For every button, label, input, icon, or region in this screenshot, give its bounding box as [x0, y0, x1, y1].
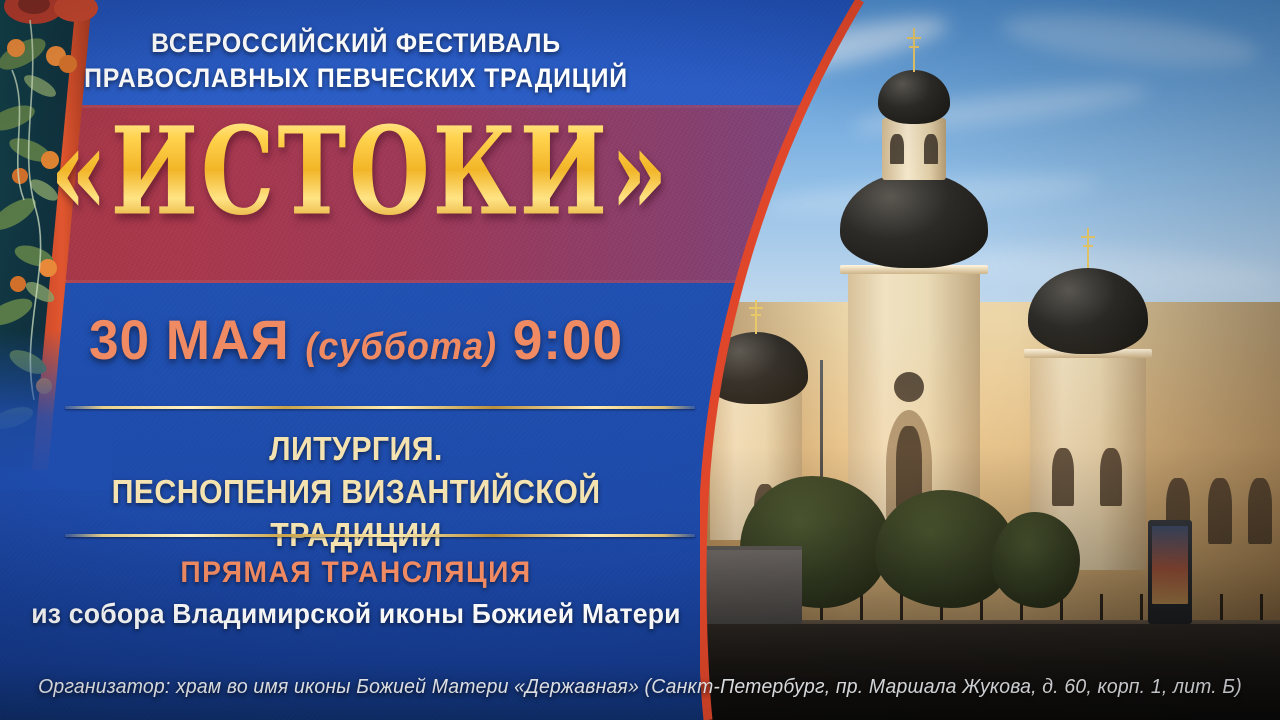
kicker-line-1: ВСЕРОССИЙСКИЙ ФЕСТИВАЛЬ: [28, 26, 683, 61]
divider-top: [65, 406, 695, 409]
festival-title: «ИСТОКИ»: [50, 112, 662, 233]
divider-bottom: [65, 534, 695, 537]
venue-line: из собора Владимирской иконы Божией Мате…: [18, 598, 694, 630]
broadcast-label: ПРЯМАЯ ТРАНСЛЯЦИЯ: [21, 556, 690, 590]
event-date: 30 МАЯ: [89, 308, 290, 371]
organizer-line: Организатор: храм во имя иконы Божией Ма…: [19, 676, 1261, 699]
program-line-2: ПЕСНОПЕНИЯ ВИЗАНТИЙСКОЙ ТРАДИЦИИ: [28, 471, 683, 557]
festival-poster: ВСЕРОССИЙСКИЙ ФЕСТИВАЛЬ ПРАВОСЛАВНЫХ ПЕВ…: [0, 0, 1280, 720]
program-line-1: ЛИТУРГИЯ.: [28, 428, 683, 471]
kicker-line-2: ПРАВОСЛАВНЫХ ПЕВЧЕСКИХ ТРАДИЦИЙ: [28, 61, 683, 96]
event-weekday: (суббота): [305, 326, 497, 368]
event-time: 9:00: [513, 308, 623, 371]
date-time-line: 30 МАЯ (суббота) 9:00: [18, 312, 694, 368]
festival-kicker: ВСЕРОССИЙСКИЙ ФЕСТИВАЛЬ ПРАВОСЛАВНЫХ ПЕВ…: [28, 26, 683, 95]
program-block: ЛИТУРГИЯ. ПЕСНОПЕНИЯ ВИЗАНТИЙСКОЙ ТРАДИЦ…: [28, 428, 683, 557]
